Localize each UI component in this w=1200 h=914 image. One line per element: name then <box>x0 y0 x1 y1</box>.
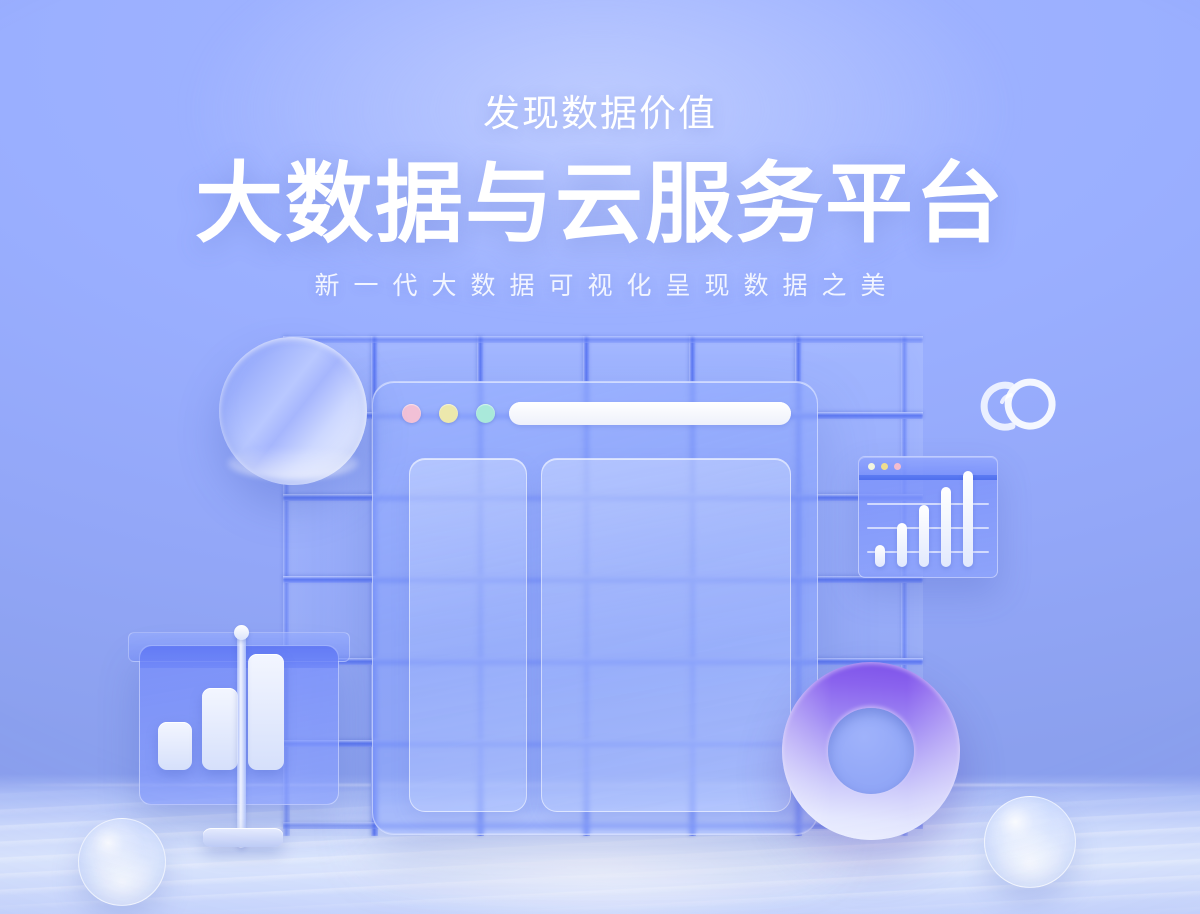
close-dot-icon[interactable] <box>402 404 421 423</box>
widget-close-dot-icon[interactable] <box>868 463 875 470</box>
sidebar-panel[interactable] <box>409 458 527 812</box>
headline-block: 发现数据价值 大数据与云服务平台 新一代大数据可视化呈现数据之美 <box>0 0 1200 299</box>
tagline-text: 新一代大数据可视化呈现数据之美 <box>0 274 1200 299</box>
stand-knob <box>234 625 249 640</box>
glass-disc <box>219 337 367 485</box>
mini-chart-bar <box>941 487 951 567</box>
cloud-icon <box>978 364 1074 436</box>
page-title: 大数据与云服务平台 <box>0 160 1200 248</box>
bar-chart-bar <box>202 688 238 770</box>
address-bar-input[interactable] <box>509 402 791 425</box>
widget-maximize-dot-icon[interactable] <box>894 463 901 470</box>
bar-chart-bar <box>248 654 284 770</box>
bar-chart-bar <box>158 722 192 770</box>
maximize-dot-icon[interactable] <box>476 404 495 423</box>
mini-chart-widget[interactable] <box>858 456 998 578</box>
mini-chart-bar <box>875 545 885 567</box>
mini-chart-bar <box>919 505 929 567</box>
mini-widget-title-bar <box>859 457 997 475</box>
glass-torus <box>782 662 960 840</box>
mini-chart-bar <box>963 471 973 567</box>
stand-pole <box>237 632 246 848</box>
glass-sphere-left <box>78 818 166 906</box>
browser-mockup[interactable] <box>372 381 818 835</box>
minimize-dot-icon[interactable] <box>439 404 458 423</box>
stand-base <box>203 828 283 847</box>
banner-stage: 发现数据价值 大数据与云服务平台 新一代大数据可视化呈现数据之美 <box>0 0 1200 914</box>
grid-line-h <box>283 336 923 343</box>
mini-chart-bar <box>897 523 907 567</box>
mini-widget-separator <box>859 475 997 480</box>
browser-title-bar <box>373 382 817 442</box>
widget-minimize-dot-icon[interactable] <box>881 463 888 470</box>
eyebrow-text: 发现数据价值 <box>0 95 1200 132</box>
glass-sphere-right <box>984 796 1076 888</box>
content-panel[interactable] <box>541 458 791 812</box>
